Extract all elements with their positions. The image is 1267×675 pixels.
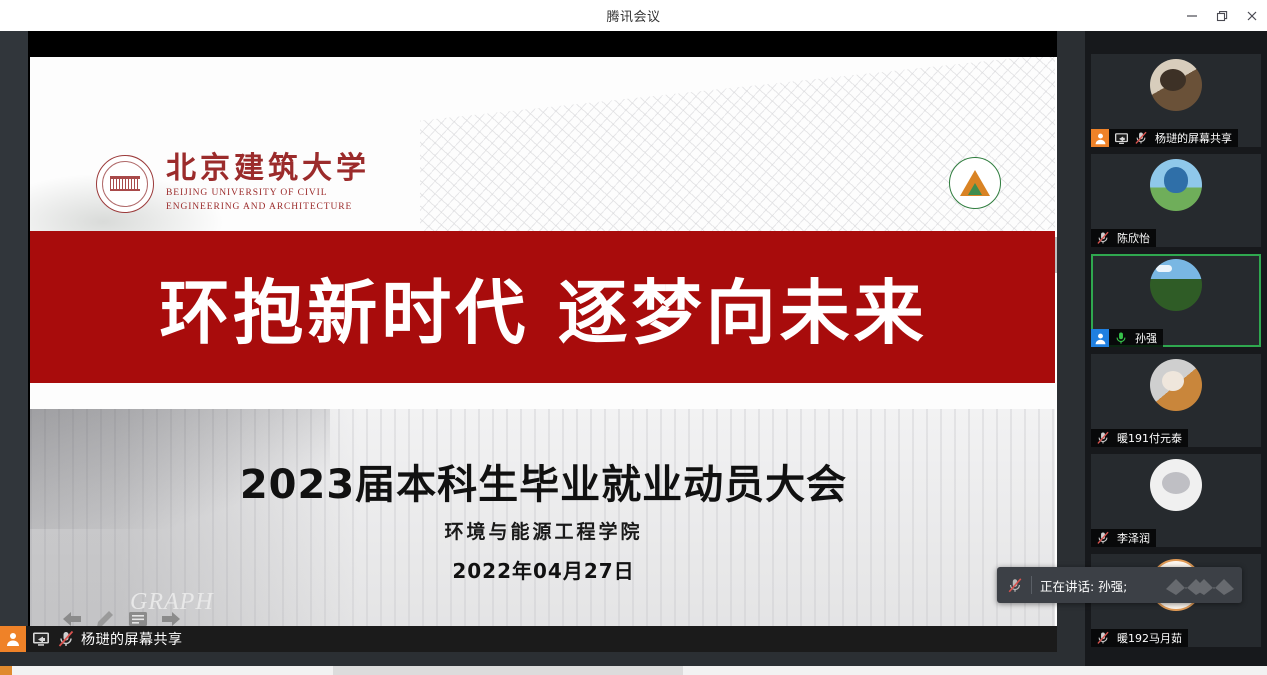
mic-muted-icon (1095, 430, 1111, 446)
screen-share-icon (1113, 130, 1129, 146)
participant-status-bar: 李泽润 (1091, 529, 1156, 547)
avatar (1150, 359, 1202, 411)
minimize-button[interactable] (1177, 0, 1207, 31)
participant-name: 暖192马月茹 (1115, 630, 1182, 646)
screen-share-icon (31, 629, 51, 649)
university-name-cn: 北京建筑大学 (166, 153, 370, 185)
share-status-label: 杨琎的屏幕共享 (81, 629, 183, 649)
user-person-icon (1091, 329, 1109, 347)
mic-muted-icon (1133, 130, 1149, 146)
avatar (1150, 259, 1202, 311)
window-controls (1177, 0, 1267, 31)
avatar (1150, 459, 1202, 511)
participant-tile-active-speaker[interactable]: 孙强 (1091, 254, 1261, 347)
participant-name: 孙强 (1133, 330, 1157, 346)
active-speaker-text: 正在讲话: 孙强; (1040, 576, 1127, 595)
mic-muted-icon (1007, 577, 1023, 593)
university-name-en-line2: ENGINEERING AND ARCHITECTURE (166, 201, 370, 214)
emblem-triangle-shape (960, 170, 990, 196)
school-emblem-logo (949, 157, 1001, 209)
mic-muted-icon (1095, 530, 1111, 546)
presentation-slide: 北京建筑大学 BEIJING UNIVERSITY OF CIVIL ENGIN… (30, 57, 1057, 642)
app-title: 腾讯会议 (606, 6, 660, 25)
slide-date: 2022年04月27日 (30, 555, 1057, 584)
participant-status-bar: 暖191付元泰 (1091, 429, 1188, 447)
slide-subtitle: 2023届本科生毕业就业动员大会 (30, 452, 1057, 510)
close-button[interactable] (1237, 0, 1267, 31)
restore-button[interactable] (1207, 0, 1237, 31)
participant-tile[interactable]: 杨琎的屏幕共享 (1091, 54, 1261, 147)
participant-status-bar: 暖192马月茹 (1091, 629, 1188, 647)
university-name-en-line1: BEIJING UNIVERSITY OF CIVIL (166, 187, 370, 200)
participant-name: 暖191付元泰 (1115, 430, 1182, 446)
university-seal-icon (96, 155, 154, 213)
seal-building-shape (110, 176, 140, 191)
left-rail (0, 31, 28, 652)
wechat-logo-watermark (1164, 575, 1234, 602)
toast-divider (1031, 576, 1032, 594)
share-status-bar: 杨琎的屏幕共享 (0, 626, 1057, 652)
host-person-icon (1091, 129, 1109, 147)
participant-name: 杨琎的屏幕共享 (1153, 130, 1232, 146)
shared-screen-stage[interactable]: 北京建筑大学 BEIJING UNIVERSITY OF CIVIL ENGIN… (28, 31, 1057, 652)
meeting-body: 北京建筑大学 BEIJING UNIVERSITY OF CIVIL ENGIN… (0, 31, 1267, 675)
title-bar: 腾讯会议 (0, 0, 1267, 31)
headline-band: 环抱新时代 逐梦向未来 (30, 231, 1057, 383)
slide-department: 环境与能源工程学院 (30, 517, 1057, 544)
participant-tile[interactable]: 陈欣怡 (1091, 154, 1261, 247)
taskbar-area (333, 666, 683, 675)
avatar (1150, 59, 1202, 111)
mic-muted-icon (56, 629, 76, 649)
participant-name: 陈欣怡 (1115, 230, 1150, 246)
participant-name: 李泽润 (1115, 530, 1150, 546)
taskbar-app-indicator (0, 666, 12, 675)
participant-status-bar: 孙强 (1091, 329, 1163, 347)
participant-tile[interactable]: 李泽润 (1091, 454, 1261, 547)
school-emblem-icon (949, 157, 1001, 209)
active-speaker-toast: 正在讲话: 孙强; (997, 567, 1242, 603)
tencent-meeting-window: 腾讯会议 (0, 0, 1267, 675)
university-logo: 北京建筑大学 BEIJING UNIVERSITY OF CIVIL ENGIN… (96, 153, 370, 214)
participant-status-bar: 陈欣怡 (1091, 229, 1156, 247)
participant-status-bar: 杨琎的屏幕共享 (1091, 129, 1238, 147)
mic-muted-icon (1095, 630, 1111, 646)
avatar (1150, 159, 1202, 211)
mic-active-icon (1113, 330, 1129, 346)
participant-tile[interactable]: 暖191付元泰 (1091, 354, 1261, 447)
os-taskbar (0, 666, 1267, 675)
mic-muted-icon (1095, 230, 1111, 246)
slide-headline: 环抱新时代 逐梦向未来 (159, 257, 927, 358)
host-person-icon (0, 626, 26, 652)
